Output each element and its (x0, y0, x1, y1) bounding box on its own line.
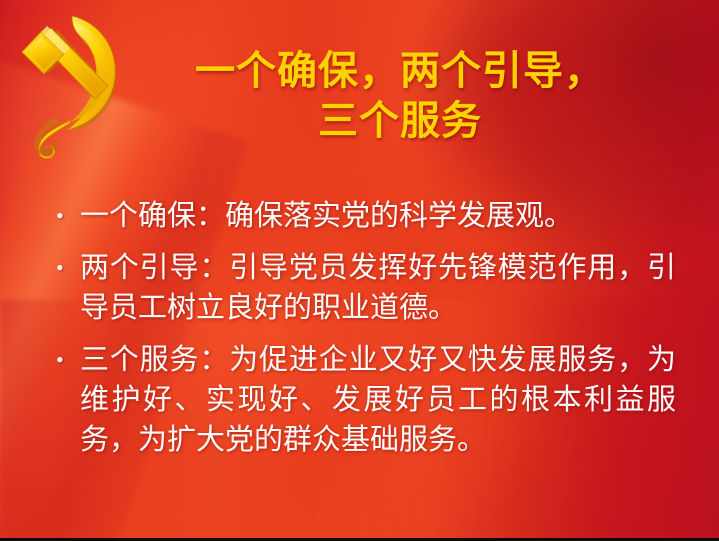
presentation-slide: 一个确保，两个引导， 三个服务 • 一个确保：确保落实党的科学发展观。 • 两个… (0, 0, 719, 541)
list-item: • 三个服务：为促进企业又好又快发展服务，为维护好、实现好、发展好员工的根本利益… (56, 340, 676, 460)
bullet-text: 一个确保：确保落实党的科学发展观。 (80, 196, 676, 236)
bullet-point-icon: • (56, 340, 80, 380)
title-line-1: 一个确保，两个引导， (140, 46, 660, 96)
bullet-point-icon: • (56, 196, 80, 236)
slide-title: 一个确保，两个引导， 三个服务 (140, 46, 660, 146)
hammer-and-sickle-icon (14, 10, 126, 160)
bullet-list: • 一个确保：确保落实党的科学发展观。 • 两个引导：引导党员发挥好先锋模范作用… (56, 196, 676, 472)
bullet-text: 三个服务：为促进企业又好又快发展服务，为维护好、实现好、发展好员工的根本利益服务… (80, 340, 676, 460)
title-line-2: 三个服务 (140, 96, 660, 146)
list-item: • 一个确保：确保落实党的科学发展观。 (56, 196, 676, 236)
list-item: • 两个引导：引导党员发挥好先锋模范作用，引导员工树立良好的职业道德。 (56, 248, 676, 328)
bullet-text: 两个引导：引导党员发挥好先锋模范作用，引导员工树立良好的职业道德。 (80, 248, 676, 328)
bullet-point-icon: • (56, 248, 80, 288)
